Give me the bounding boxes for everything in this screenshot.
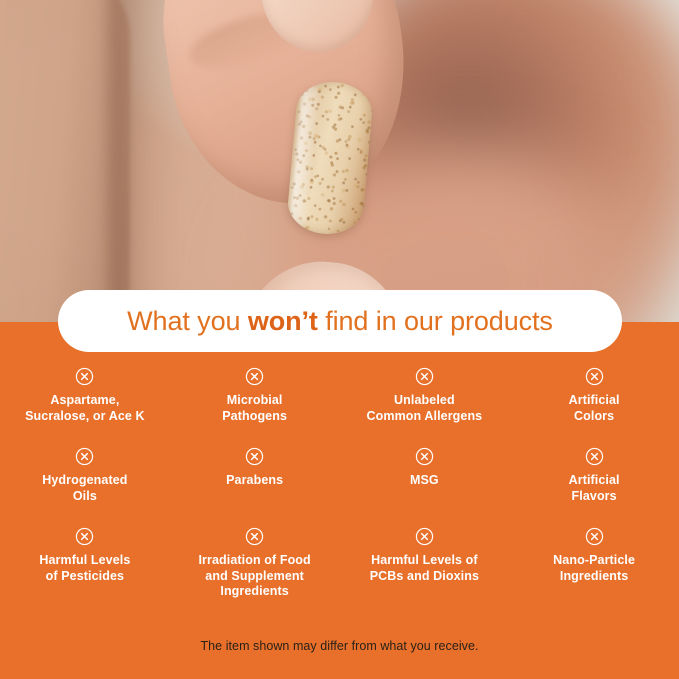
exclusion-item: Irradiation of Food and Supplement Ingre… [170, 527, 340, 613]
exclusion-label: Nano-Particle Ingredients [553, 553, 635, 584]
x-circle-icon [585, 447, 604, 466]
x-circle-icon [245, 367, 264, 386]
exclusion-label: MSG [410, 473, 439, 489]
product-photo [0, 0, 679, 322]
x-circle-icon [75, 527, 94, 546]
exclusion-label: Unlabeled Common Allergens [367, 393, 483, 424]
product-infographic: What you won’t find in our products Aspa… [0, 0, 679, 679]
exclusion-label: Microbial Pathogens [222, 393, 287, 424]
exclusion-item: Aspartame, Sucralose, or Ace K [0, 367, 170, 447]
exclusion-item: Microbial Pathogens [170, 367, 340, 447]
headline-pill: What you won’t find in our products [58, 290, 622, 352]
x-circle-icon [245, 447, 264, 466]
x-circle-icon [415, 527, 434, 546]
x-circle-icon [585, 527, 604, 546]
photo-supplement-tablet [286, 79, 375, 237]
exclusion-label: Irradiation of Food and Supplement Ingre… [198, 553, 310, 600]
x-circle-icon [415, 447, 434, 466]
exclusion-label: Harmful Levels of PCBs and Dioxins [370, 553, 479, 584]
x-circle-icon [75, 367, 94, 386]
x-circle-icon [585, 367, 604, 386]
exclusion-item: Artificial Flavors [509, 447, 679, 527]
exclusion-label: Artificial Flavors [569, 473, 620, 504]
exclusions-grid: Aspartame, Sucralose, or Ace KMicrobial … [0, 367, 679, 613]
x-circle-icon [415, 367, 434, 386]
exclusion-label: Artificial Colors [569, 393, 620, 424]
exclusion-item: Harmful Levels of PCBs and Dioxins [340, 527, 510, 613]
exclusion-item: Harmful Levels of Pesticides [0, 527, 170, 613]
title-emphasis: won’t [248, 306, 318, 336]
exclusion-item: Parabens [170, 447, 340, 527]
exclusion-item: Nano-Particle Ingredients [509, 527, 679, 613]
exclusion-label: Harmful Levels of Pesticides [39, 553, 130, 584]
exclusion-item: Hydrogenated Oils [0, 447, 170, 527]
disclaimer-text: The item shown may differ from what you … [0, 639, 679, 653]
x-circle-icon [245, 527, 264, 546]
exclusion-label: Hydrogenated Oils [42, 473, 127, 504]
exclusion-label: Parabens [226, 473, 283, 489]
title-suffix: find in our products [318, 306, 553, 336]
exclusion-item: Unlabeled Common Allergens [340, 367, 510, 447]
exclusion-item: MSG [340, 447, 510, 527]
exclusion-item: Artificial Colors [509, 367, 679, 447]
title-prefix: What you [127, 306, 248, 336]
page-title: What you won’t find in our products [127, 308, 553, 335]
x-circle-icon [75, 447, 94, 466]
exclusion-label: Aspartame, Sucralose, or Ace K [25, 393, 145, 424]
